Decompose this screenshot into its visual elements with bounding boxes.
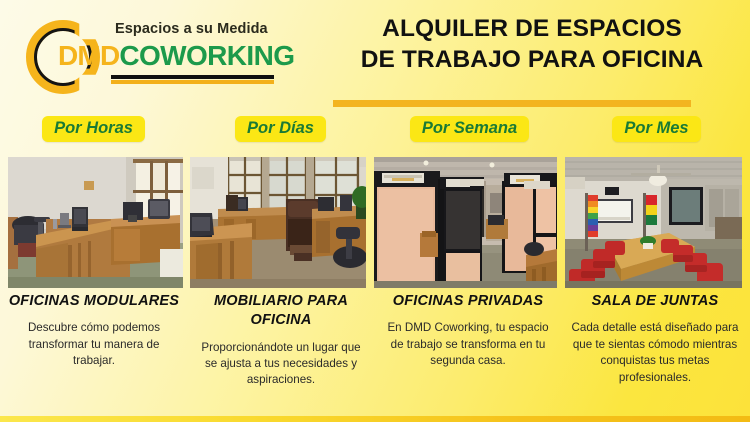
card-body-4: Cada detalle está diseñado para que te s… [562, 320, 748, 386]
logo-underline-black [111, 75, 274, 79]
page-title: ALQUILER DE ESPACIOS DE TRABAJO PARA OFI… [330, 14, 734, 76]
brand-logo[interactable]: Espacios a su Medida DMDCOWORKING [18, 8, 318, 104]
bottom-accent-bar [0, 416, 750, 422]
page-title-line-1: ALQUILER DE ESPACIOS [330, 14, 734, 45]
plan-badge-cell-1: Por Horas [0, 116, 187, 142]
card-body-3: En DMD Coworking, tu espacio de trabajo … [375, 320, 561, 369]
card-sala-de-juntas: SALA DE JUNTAS Cada detalle está diseñad… [562, 292, 748, 386]
card-oficinas-privadas: OFICINAS PRIVADAS En DMD Coworking, tu e… [375, 292, 561, 370]
plan-badge-cell-2: Por Días [187, 116, 374, 142]
title-underline [333, 100, 691, 107]
photo-sala-de-juntas[interactable] [565, 157, 742, 288]
brand-wordmark: DMDCOWORKING [58, 40, 294, 72]
promo-poster: Espacios a su Medida DMDCOWORKING ALQUIL… [0, 0, 750, 422]
caption-row: OFICINAS MODULARES Descubre cómo podemos… [0, 292, 750, 416]
photo-oficinas-modulares[interactable] [8, 157, 183, 288]
plan-badge-cell-3: Por Semana [376, 116, 563, 142]
photo-oficinas-privadas[interactable] [374, 157, 557, 288]
brand-name-coworking: COWORKING [119, 40, 294, 71]
card-title-2: MOBILIARIO PARA OFICINA [188, 292, 374, 331]
page-title-line-2: DE TRABAJO PARA OFICINA [330, 45, 734, 76]
card-body-1: Descubre cómo podemos transformar tu man… [1, 320, 187, 369]
card-mobiliario-para-oficina: MOBILIARIO PARA OFICINA Proporcionándote… [188, 292, 374, 389]
brand-name-dmd: DMD [58, 40, 119, 71]
poster-header: Espacios a su Medida DMDCOWORKING ALQUIL… [0, 0, 750, 112]
photo-row [0, 157, 750, 288]
plan-badge-row: Por Horas Por Días Por Semana Por Mes [0, 116, 750, 146]
badge-por-dias[interactable]: Por Días [235, 116, 326, 142]
badge-por-mes[interactable]: Por Mes [612, 116, 700, 142]
badge-por-semana[interactable]: Por Semana [410, 116, 529, 142]
card-title-3: OFICINAS PRIVADAS [375, 292, 561, 311]
card-body-2: Proporcionándote un lugar que se ajusta … [188, 340, 374, 389]
card-oficinas-modulares: OFICINAS MODULARES Descubre cómo podemos… [1, 292, 187, 370]
photo-mobiliario-para-oficina[interactable] [190, 157, 366, 288]
logo-underline-gold [111, 80, 274, 84]
badge-por-horas[interactable]: Por Horas [42, 116, 145, 142]
card-title-4: SALA DE JUNTAS [562, 292, 748, 311]
brand-tagline: Espacios a su Medida [115, 21, 268, 37]
card-title-1: OFICINAS MODULARES [1, 292, 187, 311]
plan-badge-cell-4: Por Mes [563, 116, 750, 142]
